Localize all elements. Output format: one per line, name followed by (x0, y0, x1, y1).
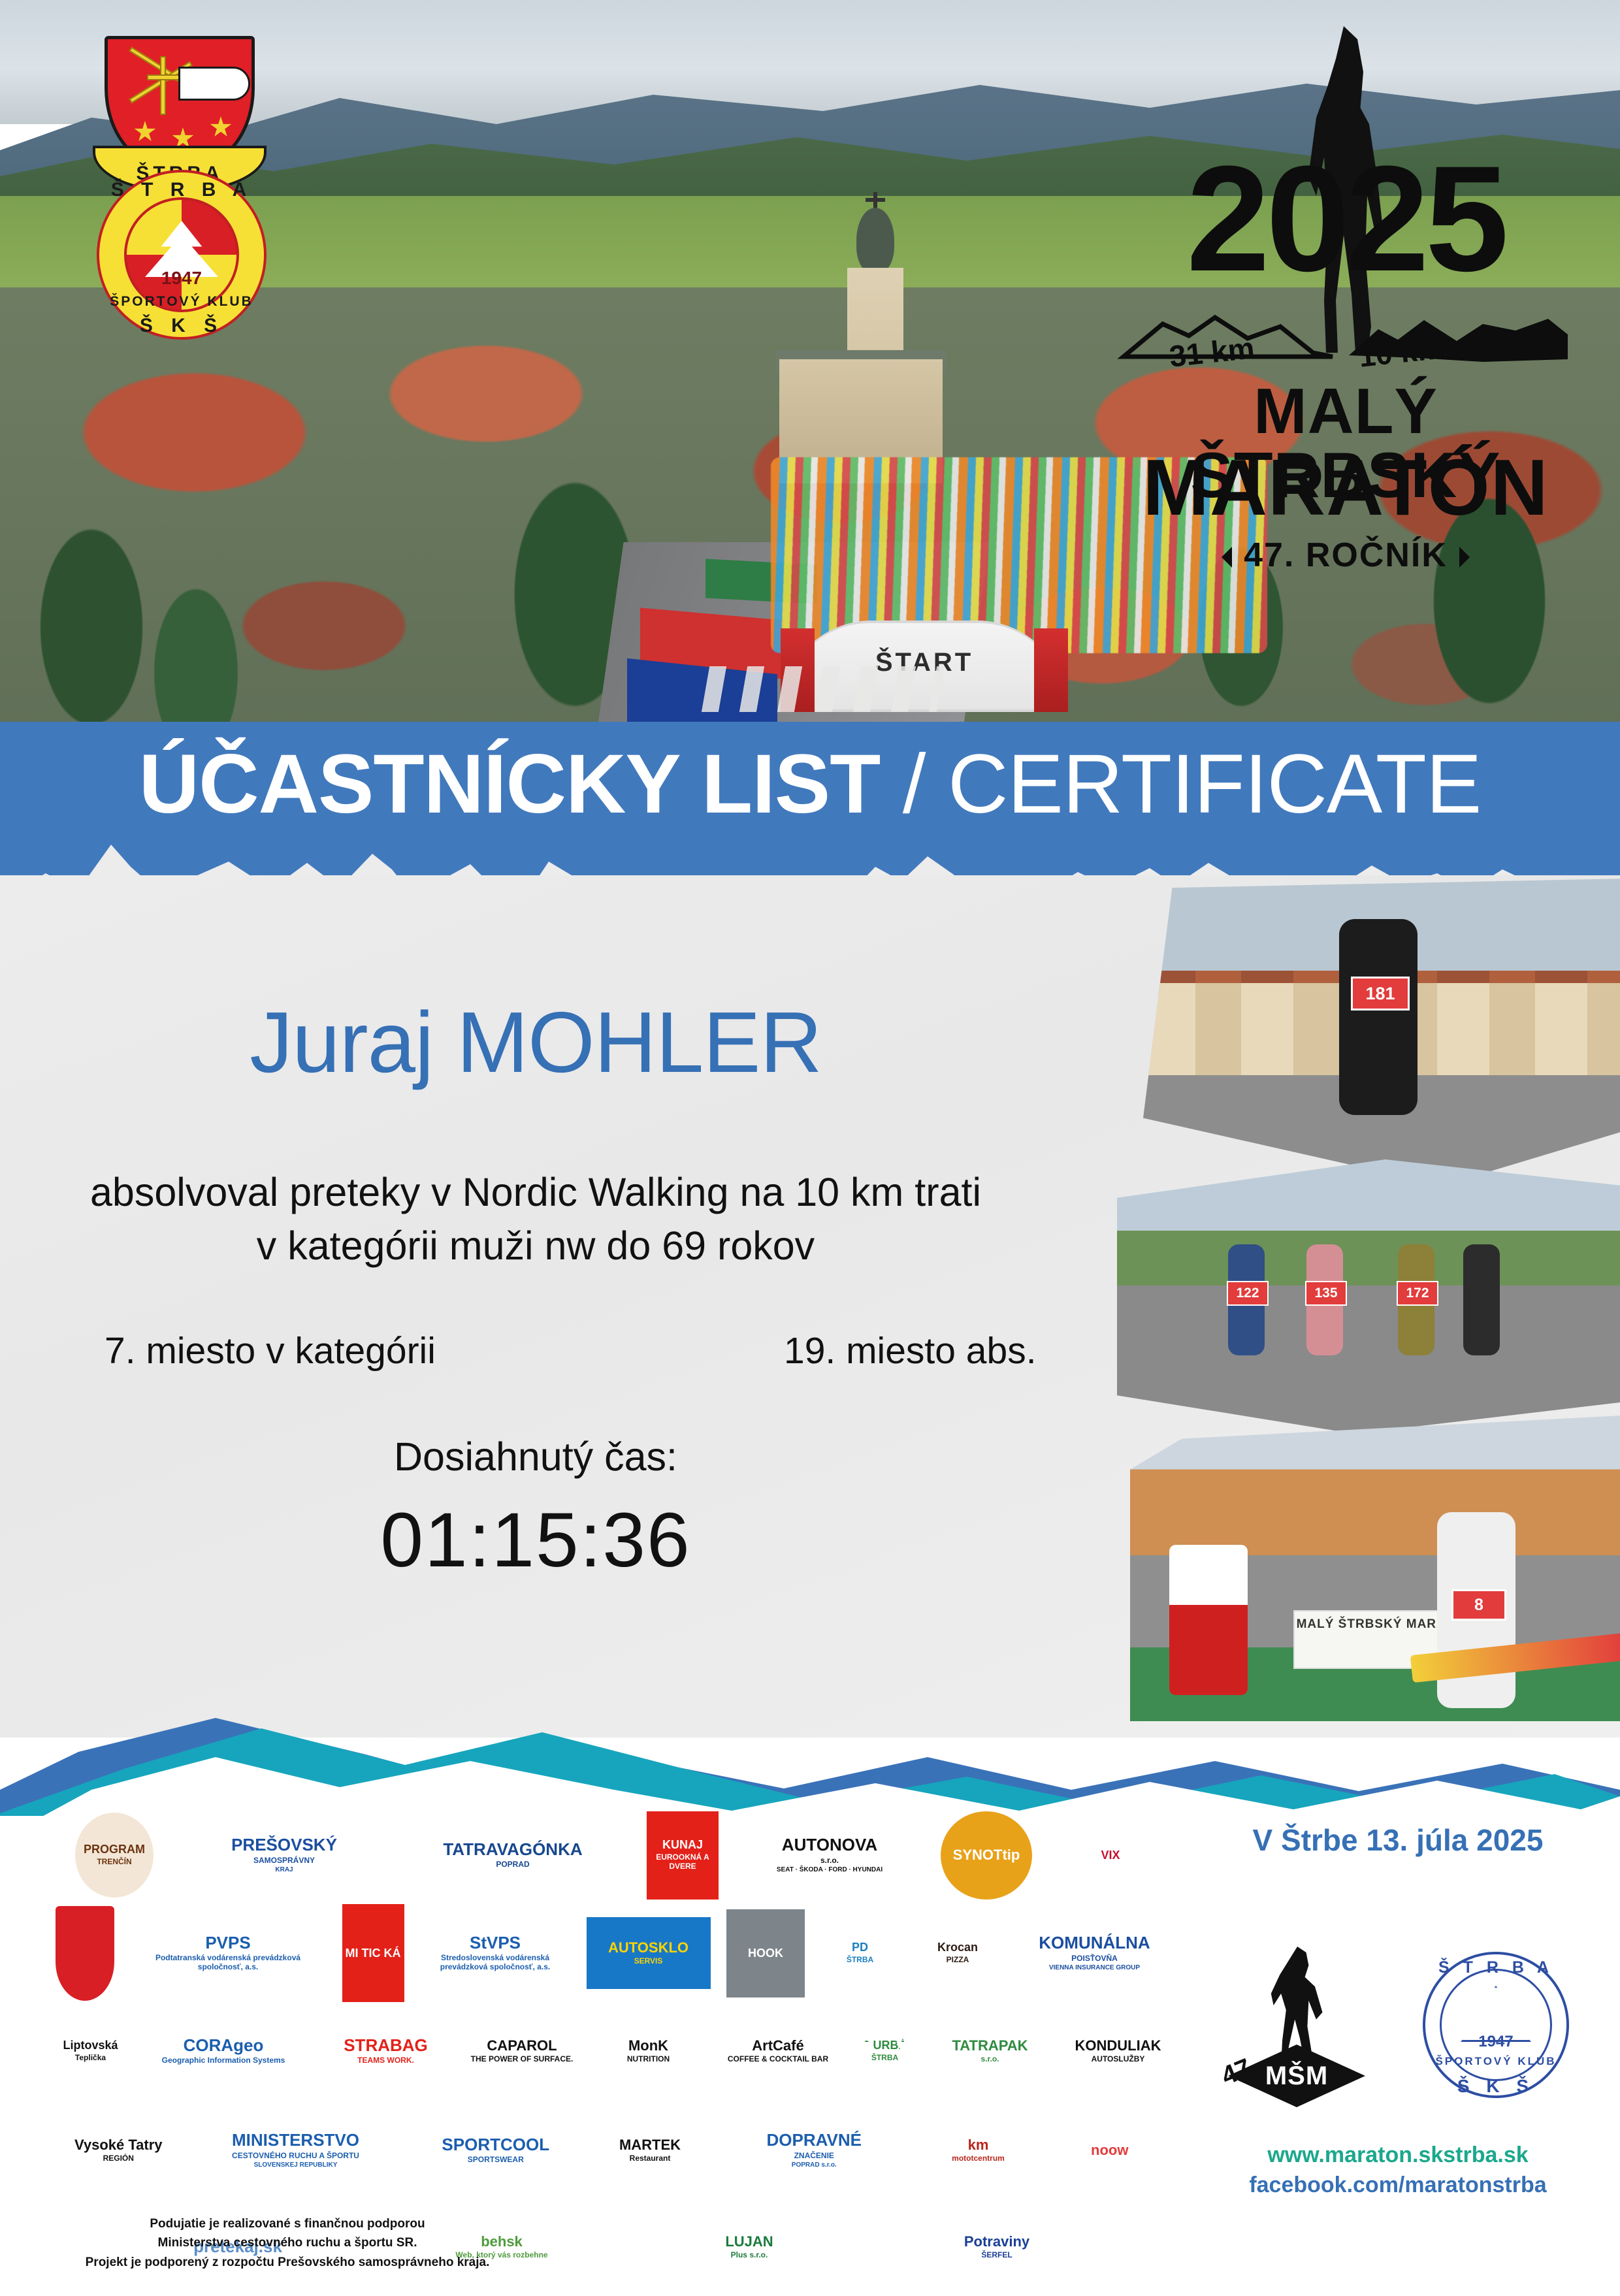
event-title-block: 2025 31 km 10 km MALÝ ŠTRBSKÝ MARATÓN 47… (1117, 26, 1574, 594)
sponsor-tagline: SAMOSPRÁVNY (251, 1856, 317, 1866)
sponsor-name: noow (1091, 2142, 1128, 2158)
photo3-folk-costume-girl (1169, 1545, 1248, 1695)
sponsor-logo-grid: PROGRAMTRENČÍNPREŠOVSKÝSAMOSPRÁVNYKRAJTA… (39, 1806, 1189, 2198)
photo2-bib-number-1: 122 (1227, 1281, 1269, 1306)
sponsor-tagline: AUTOSLUŽBY (1089, 2055, 1148, 2064)
sponsor-tagline: POPRAD (493, 1860, 532, 1869)
sponsor-name: TATRAVAGÓNKA (443, 1841, 582, 1858)
collage-photo-finish-line: MALÝ ŠTRBSKÝ MARATÓN 8 (1130, 1414, 1620, 1721)
sponsor-tagline: SPORTSWEAR (465, 2156, 526, 2165)
cross-staff-icon (160, 56, 166, 115)
sponsor-name: StVPS (470, 1934, 521, 1952)
sponsor-name: km (968, 2137, 989, 2152)
sponsor-logo[interactable]: ArtCaféCOFFEE & COCKTAIL BAR (719, 2009, 837, 2094)
sponsor-name: HOOK (748, 1947, 783, 1960)
sponsor-tagline: Podtatranská vodárenská prevádzková spol… (130, 1954, 326, 1972)
sponsor-tagline: EUROOKNÁ A DVERE (647, 1853, 719, 1871)
photo2-runner-4 (1463, 1244, 1500, 1355)
sponsor-logo[interactable]: CAPAROLTHE POWER OF SURFACE. (466, 2009, 577, 2094)
achievement-line-1: absolvoval preteky v Nordic Walking na 1… (0, 1169, 1071, 1215)
sponsor-tagline: Stredoslovenská vodárenská prevádzková s… (420, 1954, 570, 1972)
sponsor-tagline: ŠERFEL (979, 2251, 1014, 2260)
photo2-bib-number-3: 172 (1397, 1281, 1438, 1306)
sponsor-subtagline: KRAJ (272, 1866, 295, 1874)
sks-top-text: Š T R B A (1411, 1958, 1581, 1977)
club-logo-bottom-text: Š K Š (97, 315, 267, 337)
race-photo-collage: 181 122 135 172 MALÝ ŠTRBSKÝ MARATÓN 8 (1104, 879, 1620, 1721)
sponsor-logo[interactable]: MINISTERSTVOCESTOVNÉHO RUCHU A ŠPORTUSLO… (198, 2105, 394, 2196)
sponsor-name: PD (852, 1941, 868, 1954)
sponsor-tagline: ZNAČENIE (792, 2152, 837, 2161)
header-photo-banner: ŠTART ŠTRBA Š T R B A 1947 ŠPORTOVÝ KLUB… (0, 0, 1620, 764)
mountain-profile-row: 31 km 10 km (1117, 300, 1574, 379)
event-year: 2025 (1117, 144, 1574, 294)
sponsor-name: VIX (1101, 1849, 1120, 1862)
sponsor-tagline: s.r.o. (978, 2055, 1001, 2064)
sponsor-row: PVPSPodtatranská vodárenská prevádzková … (39, 1904, 1205, 2002)
sponsor-logo[interactable] (56, 1906, 114, 2001)
event-edition-row: 47. ROČNÍK (1117, 536, 1574, 575)
disclaimer-line-2: Ministerstva cestovného ruchu a športu S… (46, 2233, 529, 2252)
sponsor-name: KUNAJ (662, 1839, 703, 1851)
sponsor-tagline: POISŤOVŇA (1069, 1954, 1120, 1964)
sponsor-tagline: CESTOVNÉHO RUCHU A ŠPORTU (229, 2152, 362, 2161)
sponsor-subtagline: SLOVENSKEJ REPUBLIKY (251, 2161, 340, 2169)
church-spire (856, 208, 894, 273)
sponsor-name: AUTONOVA (782, 1836, 877, 1854)
event-edition: 47. ROČNÍK (1244, 536, 1448, 574)
sponsor-logo[interactable]: STRABAGTEAMS WORK. (317, 2012, 455, 2090)
sponsor-tagline: Teplička (73, 2054, 108, 2063)
arrow-left-icon (1222, 547, 1232, 568)
sponsor-name: PROGRAM (84, 1843, 145, 1856)
participant-name: Juraj MOHLER (0, 993, 1071, 1091)
sponsor-logo[interactable]: LiptovskáTeplička (52, 2015, 130, 2087)
sponsor-name: Potraviny (964, 2234, 1029, 2249)
sponsor-logo[interactable]: PS URBÁRŠTRBA (849, 2005, 921, 2097)
sponsor-tagline: ŠTRBA (844, 1956, 876, 1965)
sponsor-logo[interactable]: PREŠOVSKÝSAMOSPRÁVNYKRAJ (189, 1816, 379, 1894)
sponsor-logo[interactable]: PROGRAMTRENČÍN (75, 1813, 154, 1898)
sponsor-tagline: mototcentrum (949, 2154, 1007, 2163)
sponsor-tagline: s.r.o. (818, 1856, 841, 1866)
finish-time-label: Dosiahnutý čas: (0, 1434, 1071, 1479)
msm-monogram: MŠM (1265, 2062, 1328, 2091)
club-logo-middle-text: ŠPORTOVÝ KLUB (97, 294, 267, 310)
sponsor-name: PVPS (205, 1934, 250, 1952)
collage-photo-runners-group: 122 135 172 (1117, 1159, 1620, 1434)
sponsor-name: PREŠOVSKÝ (231, 1836, 337, 1854)
club-logo-year: 1947 (97, 268, 267, 289)
sponsor-name: Vysoké Tatry (74, 2137, 163, 2152)
sponsor-tagline: Restaurant (627, 2154, 673, 2163)
crosswalk (702, 666, 945, 712)
arm-and-hand-icon (178, 67, 250, 101)
photo3-bib-number: 8 (1451, 1589, 1506, 1621)
star-icon-3 (210, 116, 232, 138)
sponsor-logo[interactable]: AUTOSKLOSERVIS (587, 1917, 711, 1989)
sponsor-logo[interactable]: MonKNUTRITION (590, 2012, 707, 2090)
sponsor-name: PS URBÁR (854, 2039, 915, 2052)
sponsor-name: CAPAROL (487, 2038, 557, 2053)
sponsor-name: KOMUNÁLNA (1039, 1934, 1150, 1952)
sponsor-logo[interactable]: LUJANPlus s.r.o. (694, 2208, 805, 2286)
sponsor-name: AUTOSKLO (608, 1940, 688, 1955)
sponsor-name: LUJAN (725, 2234, 773, 2249)
sponsor-logo[interactable]: VIX (1068, 1811, 1153, 1900)
website-link[interactable]: www.maraton.skstrba.sk (1195, 2142, 1600, 2168)
certificate-title-sk: ÚČASTNÍCKY LIST (139, 737, 881, 831)
photo1-bib-number: 181 (1351, 977, 1410, 1011)
sponsor-tagline: COFFEE & COCKTAIL BAR (725, 2055, 831, 2064)
sks-stamp-logo: Š T R B A 1947 ŠPORTOVÝ KLUB Š K Š (1411, 1940, 1581, 2110)
sponsor-logo[interactable]: KOMUNÁLNAPOISŤOVŇAVIENNA INSURANCE GROUP (1016, 1913, 1173, 1994)
absolute-placement: 19. miesto abs. (784, 1329, 1037, 1372)
certificate-title-en: / CERTIFICATE (880, 737, 1481, 831)
certificate-title: ÚČASTNÍCKY LIST / CERTIFICATE (0, 743, 1620, 826)
sponsor-name: TATRAPAK (952, 2038, 1028, 2053)
sponsor-name: MI TIC KÁ (346, 1947, 401, 1960)
sponsor-name: SYNOTtip (953, 1847, 1020, 1862)
category-placement: 7. miesto v kategórii (105, 1329, 436, 1372)
disclaimer-line-1: Podujatie je realizované s finančnou pod… (46, 2214, 529, 2233)
sponsor-logo[interactable]: kmmototcentrum (926, 2105, 1031, 2196)
sponsor-name: MonK (628, 2038, 668, 2053)
facebook-link[interactable]: facebook.com/maratonstrba (1195, 2173, 1600, 2198)
sponsor-tagline: THE POWER OF SURFACE. (468, 2055, 576, 2064)
photo1-runner (1339, 919, 1417, 1115)
funding-disclaimer: Podujatie je realizované s finančnou pod… (46, 2214, 529, 2272)
sks-year: 1947 (1411, 2033, 1581, 2051)
sponsor-name: KONDULIAK (1075, 2038, 1161, 2053)
sponsor-logo[interactable]: Vysoké TatryREGIÓN (69, 2101, 167, 2199)
arrow-right-icon (1459, 547, 1470, 568)
sks-middle-text: ŠPORTOVÝ KLUB (1411, 2055, 1581, 2068)
sponsor-name: Krocan (937, 1941, 978, 1954)
sponsor-logo[interactable]: MARTEKRestaurant (598, 2101, 702, 2199)
finish-time-value: 01:15:36 (0, 1496, 1071, 1585)
sponsor-name: MARTEK (619, 2137, 681, 2152)
sponsor-logo[interactable]: DOPRAVNÉZNAČENIEPOPRAD s.r.o. (732, 2111, 896, 2190)
club-logo-top-text: Š T R B A (97, 179, 267, 201)
sponsor-tagline: TEAMS WORK. (355, 2056, 417, 2065)
sponsor-logo[interactable]: PVPSPodtatranská vodárenská prevádzková … (130, 1909, 326, 1997)
sponsor-tagline: Geographic Information Systems (159, 2056, 288, 2065)
sponsor-logo[interactable]: KONDULIAKAUTOSLUŽBY (1060, 2015, 1177, 2087)
sponsor-row: LiptovskáTepličkaCORAgeoGeographic Infor… (39, 2002, 1201, 2100)
sponsor-name: Liptovská (63, 2039, 118, 2052)
sponsor-logo[interactable]: KUNAJEUROOKNÁ A DVERE (647, 1811, 719, 1900)
sponsor-logo[interactable]: TATRAVAGÓNKAPOPRAD (415, 1816, 611, 1894)
collage-photo-finisher-woman: 181 (1143, 879, 1620, 1186)
sponsor-tagline: ŠTRBA (869, 2054, 901, 2063)
sponsor-name: ArtCafé (752, 2038, 803, 2053)
msm-logo: 47. MŠM (1222, 1947, 1372, 2110)
sponsor-logo[interactable]: CORAgeoGeographic Information Systems (142, 2012, 305, 2090)
sponsor-logo[interactable]: AUTONOVAs.r.o.SEAT · ŠKODA · FORD · HYUN… (754, 1811, 905, 1900)
sponsor-row: Vysoké TatryREGIÓNMINISTERSTVOCESTOVNÉHO… (39, 2101, 1219, 2199)
sponsor-logo[interactable]: TATRAPAKs.r.o. (933, 2015, 1047, 2087)
sponsor-logo[interactable]: MI TIC KÁ (342, 1904, 404, 2002)
sks-club-logo: Š T R B A 1947 ŠPORTOVÝ KLUB Š K Š (97, 170, 267, 340)
sponsor-logo[interactable]: KrocanPIZZA (915, 1907, 1000, 1999)
achievement-line-2: v kategórii muži nw do 69 rokov (0, 1223, 1071, 1269)
sponsor-tagline: TRENČÍN (94, 1858, 134, 1867)
event-title-line2: MARATÓN (1117, 447, 1574, 527)
sponsor-name: MINISTERSTVO (232, 2131, 359, 2149)
sponsor-logo[interactable]: StVPSStredoslovenská vodárenská prevádzk… (420, 1904, 570, 2002)
sponsor-tagline: PIZZA (944, 1956, 972, 1965)
sponsor-logo[interactable]: SYNOTtip (941, 1811, 1032, 1900)
footer-right-column: V Štrbe 13. júla 2025 47. MŠM Š T R B A … (1195, 1822, 1600, 2280)
star-icon-1 (134, 121, 156, 143)
sponsor-tagline: REGIÓN (101, 2154, 137, 2163)
sponsor-logo[interactable]: HOOK (726, 1909, 805, 1997)
sponsor-logo[interactable]: PDŠTRBA (821, 1907, 899, 1999)
photo2-bib-number-2: 135 (1305, 1281, 1347, 1306)
sponsor-subtagline: POPRAD s.r.o. (789, 2161, 839, 2169)
sponsor-row: PROGRAMTRENČÍNPREŠOVSKÝSAMOSPRÁVNYKRAJTA… (39, 1806, 1225, 1904)
sponsor-name: DOPRAVNÉ (767, 2131, 862, 2149)
event-date: V Štrbe 13. júla 2025 (1195, 1822, 1600, 1858)
sponsor-logo[interactable]: PotravinyŠERFEL (931, 2208, 1062, 2286)
sks-bottom-text: Š K Š (1411, 2076, 1581, 2097)
sponsor-name: CORAgeo (184, 2037, 264, 2054)
sponsor-tagline: NUTRITION (624, 2055, 672, 2064)
sponsor-subtagline: VIENNA INSURANCE GROUP (1046, 1964, 1142, 1972)
sponsor-tagline: Plus s.r.o. (728, 2251, 771, 2260)
sponsor-logo[interactable]: SPORTCOOLSPORTSWEAR (424, 2111, 568, 2190)
sponsor-tagline: SERVIS (632, 1957, 666, 1966)
sponsor-subtagline: SEAT · ŠKODA · FORD · HYUNDAI (774, 1866, 885, 1874)
sponsor-name: STRABAG (344, 2037, 428, 2054)
sponsor-logo[interactable]: noow (1061, 2111, 1159, 2190)
disclaimer-line-3: Projekt je podporený z rozpočtu Prešovsk… (46, 2253, 529, 2272)
church-building (813, 196, 937, 483)
sponsor-name: SPORTCOOL (442, 2136, 549, 2154)
